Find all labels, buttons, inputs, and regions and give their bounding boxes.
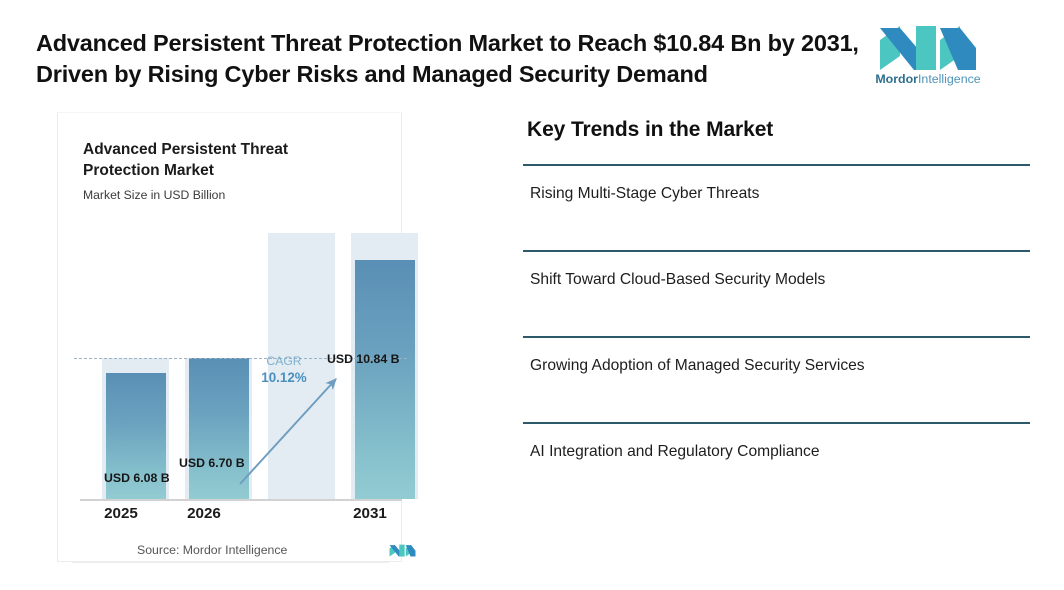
key-trends-heading: Key Trends in the Market: [527, 118, 1030, 142]
bar-value-label-2031: USD 10.84 B: [327, 352, 399, 366]
trend-item-label: Shift Toward Cloud-Based Security Models: [530, 271, 825, 289]
brand-word-primary: Mordor: [875, 72, 918, 86]
bar-value-label-2026: USD 6.70 B: [179, 456, 245, 470]
mordor-m-logo-icon: [389, 541, 416, 558]
chart-plot-area: USD 6.08 B USD 6.70 B USD 10.84 B CAGR 1…: [74, 233, 407, 499]
chart-source-label: Source: Mordor Intelligence: [137, 543, 287, 557]
page-title: Advanced Persistent Threat Protection Ma…: [36, 28, 866, 91]
brand-wordmark: MordorIntelligence: [872, 72, 984, 86]
x-axis-tick-2025: 2025: [76, 505, 166, 522]
cagr-value: 10.12%: [249, 369, 319, 386]
page-header: Advanced Persistent Threat Protection Ma…: [0, 0, 1064, 110]
trend-item: Growing Adoption of Managed Security Ser…: [523, 336, 1030, 422]
trend-item-label: Rising Multi-Stage Cyber Threats: [530, 185, 759, 203]
trend-item: Shift Toward Cloud-Based Security Models: [523, 250, 1030, 336]
cagr-label: CAGR: [249, 354, 319, 369]
trend-item: Rising Multi-Stage Cyber Threats: [523, 164, 1030, 250]
card-footer-divider: [72, 562, 389, 563]
trend-item-label: AI Integration and Regulatory Compliance: [530, 443, 820, 461]
trend-item: AI Integration and Regulatory Compliance: [523, 422, 1030, 508]
x-axis-line: [80, 499, 402, 501]
x-axis-tick-2026: 2026: [159, 505, 249, 522]
brand-logo: MordorIntelligence: [872, 18, 984, 100]
chart-subtitle: Market Size in USD Billion: [83, 188, 225, 202]
x-axis-tick-2031: 2031: [325, 505, 415, 522]
cagr-annotation: CAGR 10.12%: [249, 354, 319, 387]
chart-source-row: Source: Mordor Intelligence: [58, 543, 403, 569]
key-trends-panel: Key Trends in the Market Rising Multi-St…: [523, 118, 1030, 508]
chart-title: Advanced Persistent Threat Protection Ma…: [83, 140, 333, 181]
bar-value-label-2025: USD 6.08 B: [104, 471, 170, 485]
brand-word-secondary: Intelligence: [918, 72, 981, 86]
trend-item-label: Growing Adoption of Managed Security Ser…: [530, 357, 865, 375]
chart-card: Advanced Persistent Threat Protection Ma…: [57, 112, 402, 562]
mordor-m-logo-icon: [878, 18, 978, 70]
